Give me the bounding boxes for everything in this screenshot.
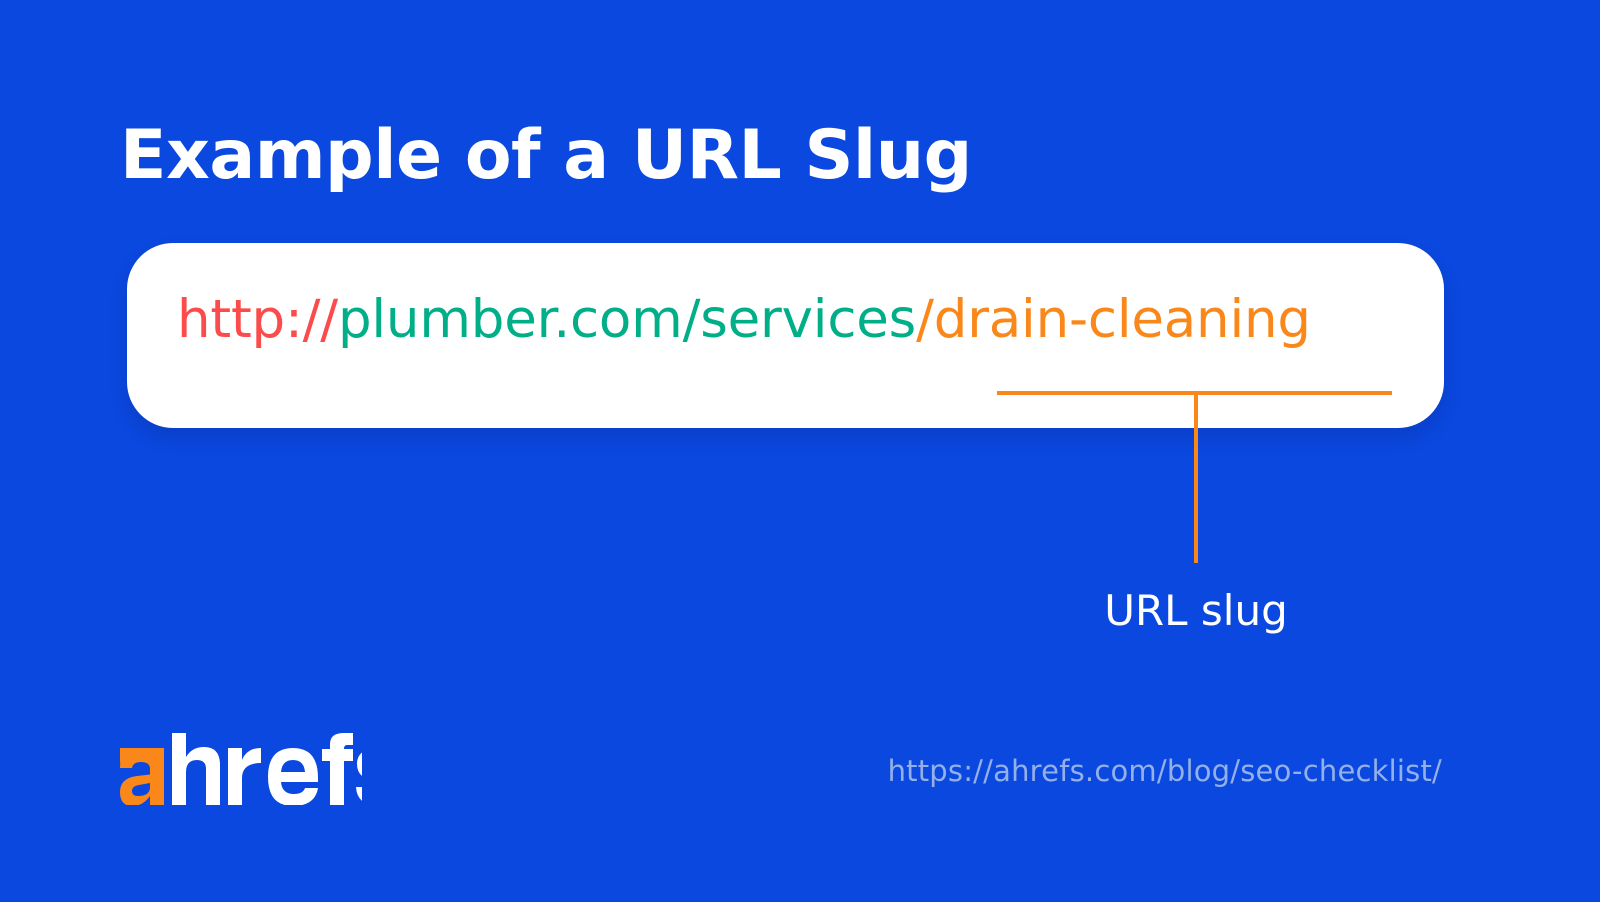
annotation-label: URL slug [1104,590,1288,632]
url-example-card: http://plumber.com/services/drain-cleani… [127,243,1444,428]
infographic-canvas: Example of a URL Slug http://plumber.com… [0,0,1600,902]
url-segment-scheme: http:// [177,289,338,350]
page-title: Example of a URL Slug [120,122,972,190]
url-string: http://plumber.com/services/drain-cleani… [177,293,1311,346]
ahrefs-wordmark-icon [120,733,362,805]
url-segment-domain-path: plumber.com/services [338,289,916,350]
ahrefs-logo [120,733,362,805]
source-url: https://ahrefs.com/blog/seo-checklist/ [888,757,1442,786]
url-segment-slug: /drain-cleaning [916,289,1311,350]
